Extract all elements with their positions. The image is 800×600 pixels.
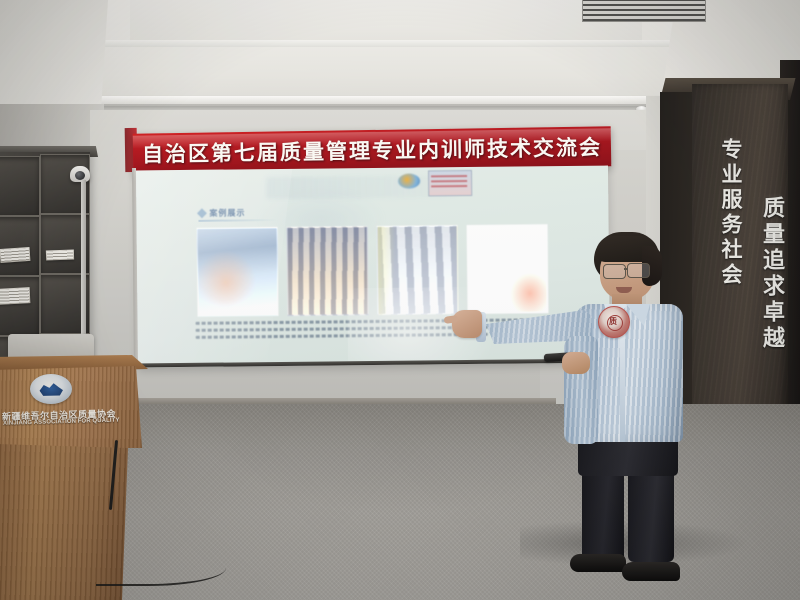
book-stack xyxy=(0,247,30,263)
slide-photo xyxy=(377,225,459,315)
dome-security-camera-icon xyxy=(70,166,90,182)
slide-photo xyxy=(287,226,369,316)
ceiling-cornice-upper xyxy=(92,40,680,47)
shelf-cubby xyxy=(0,216,40,276)
shirt-placket xyxy=(620,320,625,442)
slide-photo xyxy=(197,227,279,317)
presenter: 质 xyxy=(470,232,690,562)
chest-badge: 质 xyxy=(598,306,630,338)
ceiling-inner-panel xyxy=(130,0,642,44)
presenter-hand-holding xyxy=(562,352,590,374)
wall-conduit xyxy=(81,180,86,358)
eyeglasses-bridge xyxy=(624,268,628,270)
presenter-leg-right xyxy=(628,470,674,562)
book-stack xyxy=(0,287,30,305)
conference-room-scene: 专业服务社会 质量追求卓越 自治区第七届质量管理专业内训师技术交流会 xyxy=(0,0,800,600)
presenter-hand-pointing xyxy=(452,310,482,338)
presenter-shoe-left xyxy=(570,554,626,572)
slide-section-heading: 案例展示 xyxy=(198,207,245,218)
slide-section-heading-label: 案例展示 xyxy=(209,207,245,218)
calligraphy-column-right: 质量追求卓越 xyxy=(756,196,788,352)
shelf-cubby xyxy=(0,156,40,216)
chest-badge-label: 质 xyxy=(609,316,617,328)
book-stack xyxy=(46,250,74,261)
quality-association-emblem-icon xyxy=(30,374,72,404)
diamond-bullet-icon xyxy=(197,208,207,218)
slide-corner-thumbnail xyxy=(428,170,472,196)
shelf-cubby xyxy=(0,276,40,336)
presenter-shoe-right xyxy=(622,562,680,581)
calligraphy-column-left: 专业服务社会 xyxy=(716,138,746,288)
air-vent-icon xyxy=(582,0,706,22)
eyeglasses-icon xyxy=(627,263,650,278)
slide-text-line xyxy=(196,333,488,339)
eyeglasses-icon xyxy=(603,264,626,279)
presenter-leg-left xyxy=(582,470,624,562)
